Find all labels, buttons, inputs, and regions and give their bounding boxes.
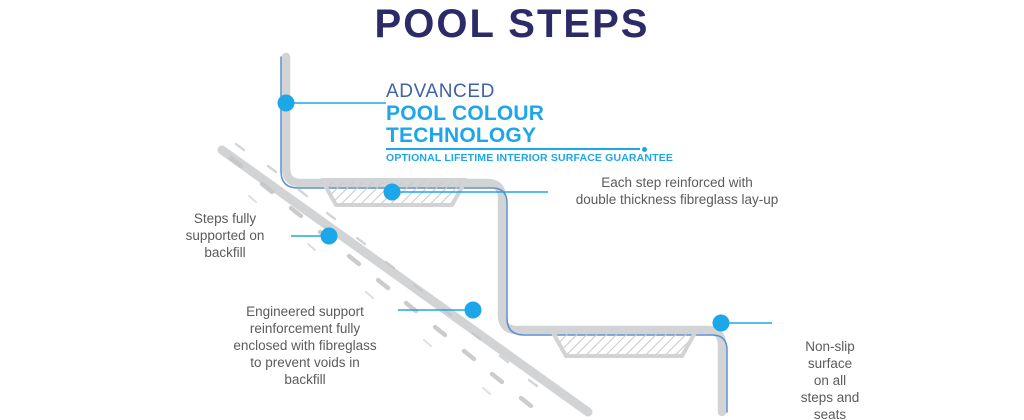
callout-line: Each step reinforced with bbox=[552, 174, 802, 191]
callout-line: backfill bbox=[160, 244, 290, 261]
callout-line: double thickness fibreglass lay-up bbox=[552, 191, 802, 208]
callout-line: reinforcement fully bbox=[215, 320, 395, 337]
callout-label-non-slip: Non-slip surface on all steps and seats bbox=[776, 338, 884, 420]
brand-logo-underline bbox=[386, 148, 640, 150]
callout-line: seats bbox=[776, 406, 884, 420]
callout-line: surface bbox=[776, 355, 884, 372]
lower-step-reinforcement-hatch bbox=[552, 331, 696, 356]
marker-dot-step-reinforced[interactable] bbox=[384, 184, 401, 201]
leader-advanced-pool-colour-technology bbox=[278, 95, 387, 112]
leader-steps-supported bbox=[291, 228, 338, 245]
leader-non-slip bbox=[713, 315, 773, 332]
callout-line: on all bbox=[776, 372, 884, 389]
callout-line: to prevent voids in bbox=[215, 354, 395, 371]
callout-label-step-reinforced: Each step reinforced with double thickne… bbox=[552, 174, 802, 208]
marker-dot-steps-supported[interactable] bbox=[321, 228, 338, 245]
callout-label-engineered-support: Engineered support reinforcement fully e… bbox=[215, 303, 395, 388]
brand-logo-dot-icon bbox=[642, 147, 647, 152]
pool-steps-infographic: POOL STEPS bbox=[0, 0, 1024, 420]
callout-line: enclosed with fibreglass bbox=[215, 337, 395, 354]
marker-dot-non-slip[interactable] bbox=[713, 315, 730, 332]
brand-logo-line-advanced: ADVANCED bbox=[386, 82, 656, 102]
marker-dot-engineered-support[interactable] bbox=[465, 302, 482, 319]
callout-line: Engineered support bbox=[215, 303, 395, 320]
brand-logo: ADVANCED POOL COLOUR TECHNOLOGY OPTIONAL… bbox=[386, 82, 656, 165]
callout-line: backfill bbox=[215, 371, 395, 388]
callout-line: Non-slip bbox=[776, 338, 884, 355]
callout-line: steps and bbox=[776, 389, 884, 406]
brand-logo-line-pool-colour-technology: POOL COLOUR TECHNOLOGY bbox=[386, 103, 656, 147]
callout-line: supported on bbox=[160, 227, 290, 244]
marker-dot-advanced-pool-colour-technology[interactable] bbox=[278, 95, 295, 112]
callout-label-steps-supported: Steps fully supported on backfill bbox=[160, 210, 290, 261]
brand-logo-guarantee-text: OPTIONAL LIFETIME INTERIOR SURFACE GUARA… bbox=[386, 152, 656, 165]
callout-line: Steps fully bbox=[160, 210, 290, 227]
